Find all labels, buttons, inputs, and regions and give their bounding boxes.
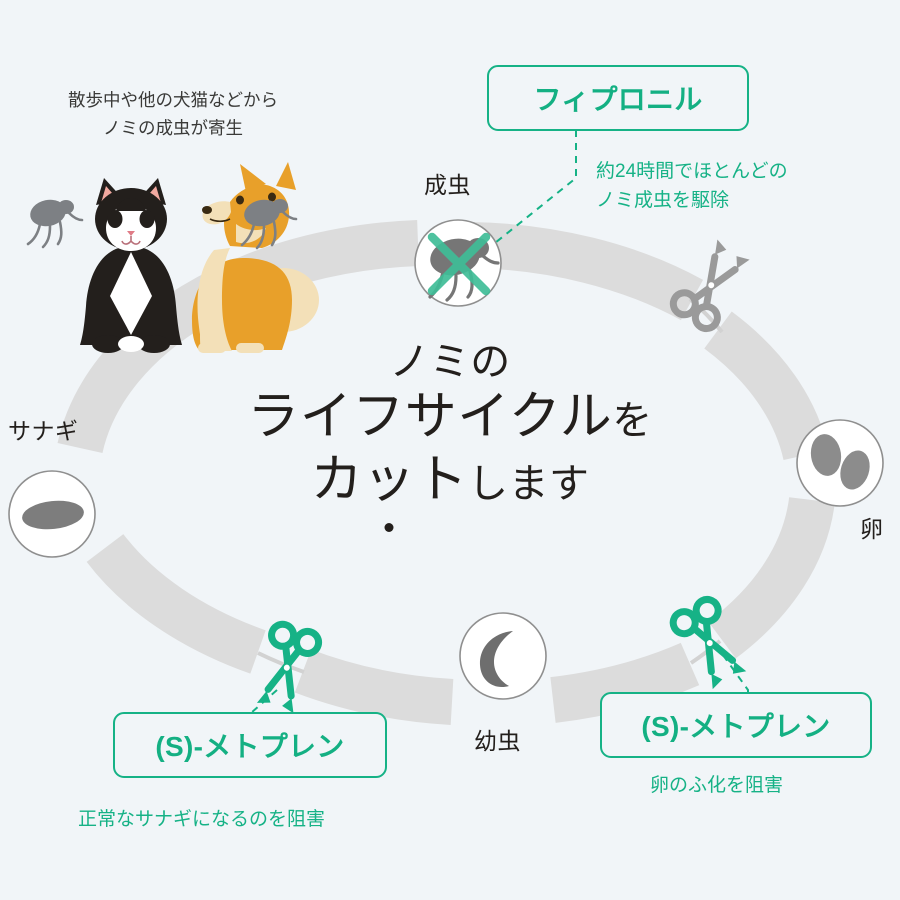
infographic-canvas: 散歩中や他の犬猫などから ノミの成虫が寄生 成虫 卵 幼虫 サナギ ノミの ライ… (0, 0, 900, 900)
title-emphasis: カット (310, 449, 468, 512)
caption-fipronil-line-2: ノミ成虫を駆除 (596, 190, 729, 211)
title-line-3-emph: カット (310, 451, 468, 509)
chemical-box-metoprene-left[interactable]: (S)-メトプレン (113, 712, 387, 778)
title-line-2-main: ライフサイクル (247, 388, 612, 446)
stage-label-larva: 幼虫 (474, 722, 521, 756)
title-line-1: ノミの (150, 338, 750, 386)
chemical-caption-metoprene-right: 卵のふ化を阻害 (650, 772, 783, 801)
intro-text: 散歩中や他の犬猫などから ノミの成虫が寄生 (28, 86, 318, 143)
stage-icon-adult[interactable] (415, 220, 501, 306)
flea-silhouette-right (242, 197, 296, 248)
title-line-3-tail: します (468, 462, 590, 506)
intro-line-1: 散歩中や他の犬猫などから (68, 90, 278, 110)
stage-icon-pupa[interactable] (9, 471, 95, 557)
flea-silhouette-left (28, 197, 82, 247)
scissors-bottom-right-icon (669, 596, 750, 692)
chemical-caption-fipronil: 約24時間でほとんどの ノミ成虫を駆除 (596, 158, 788, 216)
scissors-top-right-icon (669, 237, 754, 333)
title-line-2-particle: を (612, 399, 653, 443)
stage-label-adult: 成虫 (424, 166, 471, 200)
chemical-caption-metoprene-left: 正常なサナギになるのを阻害 (78, 806, 325, 835)
stage-label-pupa: サナギ (8, 412, 78, 446)
scissors-bottom-left-icon (252, 622, 321, 715)
caption-fipronil-line-1: 約24時間でほとんどの (596, 161, 788, 182)
leader-metoprene-left (128, 690, 277, 713)
leader-fipronil (495, 130, 576, 243)
page-title: ノミの ライフサイクルを カットします (150, 338, 750, 512)
chemical-box-fipronil[interactable]: フィプロニル (487, 65, 749, 131)
stage-icon-larva[interactable] (460, 613, 546, 699)
title-line-2: ライフサイクルを (150, 386, 750, 449)
stage-icon-egg[interactable] (797, 420, 883, 506)
chemical-box-metoprene-right[interactable]: (S)-メトプレン (600, 692, 872, 758)
dog-illustration (192, 162, 319, 353)
intro-line-2: ノミの成虫が寄生 (103, 118, 243, 138)
title-line-3: カットします (150, 449, 750, 512)
cat-illustration (80, 178, 182, 353)
stage-label-egg: 卵 (860, 510, 883, 544)
